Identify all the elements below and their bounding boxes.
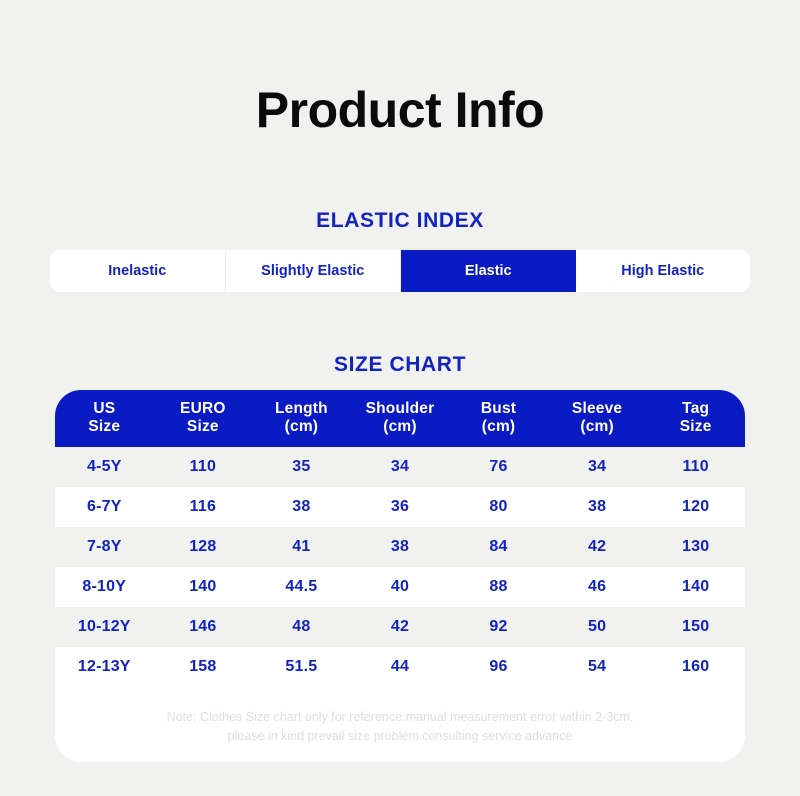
cell-bust: 92 — [449, 607, 548, 647]
size-chart-note: Note: Clothes Size chart only for refere… — [55, 708, 745, 746]
table-row: 6-7Y 116 38 36 80 38 120 — [55, 487, 745, 527]
cell-length: 48 — [252, 607, 351, 647]
table-header-row: USSize EUROSize Length(cm) Shoulder(cm) … — [55, 390, 745, 447]
cell-us-size: 6-7Y — [55, 487, 154, 527]
cell-euro-size: 128 — [154, 527, 253, 567]
product-info-page: Product Info ELASTIC INDEX Inelastic Sli… — [0, 0, 800, 796]
header-line-1: Sleeve — [572, 400, 622, 417]
header-line-2: Size — [156, 418, 251, 436]
elastic-segment-slightly-elastic[interactable]: Slightly Elastic — [226, 250, 402, 292]
elastic-segment-high-elastic[interactable]: High Elastic — [576, 250, 751, 292]
cell-length: 41 — [252, 527, 351, 567]
elastic-index-bar: Inelastic Slightly Elastic Elastic High … — [50, 250, 750, 292]
header-line-1: Bust — [481, 400, 516, 417]
size-chart-body: 4-5Y 110 35 34 76 34 110 6-7Y 116 38 36 … — [55, 447, 745, 687]
cell-bust: 80 — [449, 487, 548, 527]
cell-us-size: 8-10Y — [55, 567, 154, 607]
column-header-euro-size: EUROSize — [154, 390, 253, 447]
cell-sleeve: 50 — [548, 607, 647, 647]
cell-length: 35 — [252, 447, 351, 487]
cell-us-size: 10-12Y — [55, 607, 154, 647]
table-row: 7-8Y 128 41 38 84 42 130 — [55, 527, 745, 567]
column-header-us-size: USSize — [55, 390, 154, 447]
cell-shoulder: 34 — [351, 447, 450, 487]
elastic-segment-inelastic[interactable]: Inelastic — [50, 250, 226, 292]
column-header-shoulder: Shoulder(cm) — [351, 390, 450, 447]
column-header-length: Length(cm) — [252, 390, 351, 447]
header-line-1: Length — [275, 400, 328, 417]
cell-us-size: 7-8Y — [55, 527, 154, 567]
cell-euro-size: 140 — [154, 567, 253, 607]
column-header-sleeve: Sleeve(cm) — [548, 390, 647, 447]
header-line-2: Size — [648, 418, 743, 436]
header-line-2: (cm) — [353, 418, 448, 436]
cell-us-size: 4-5Y — [55, 447, 154, 487]
header-line-1: Tag — [682, 400, 709, 417]
table-row: 8-10Y 140 44.5 40 88 46 140 — [55, 567, 745, 607]
header-line-1: Shoulder — [366, 400, 435, 417]
note-line-1: Note: Clothes Size chart only for refere… — [95, 708, 705, 727]
cell-sleeve: 42 — [548, 527, 647, 567]
cell-tag-size: 140 — [646, 567, 745, 607]
cell-length: 51.5 — [252, 647, 351, 687]
cell-length: 38 — [252, 487, 351, 527]
cell-bust: 76 — [449, 447, 548, 487]
header-line-1: EURO — [180, 400, 226, 417]
elastic-index-heading: ELASTIC INDEX — [0, 208, 800, 234]
column-header-tag-size: TagSize — [646, 390, 745, 447]
cell-shoulder: 44 — [351, 647, 450, 687]
cell-bust: 84 — [449, 527, 548, 567]
cell-tag-size: 160 — [646, 647, 745, 687]
header-line-2: (cm) — [451, 418, 546, 436]
cell-sleeve: 54 — [548, 647, 647, 687]
size-chart-head: USSize EUROSize Length(cm) Shoulder(cm) … — [55, 390, 745, 447]
header-line-2: (cm) — [550, 418, 645, 436]
cell-length: 44.5 — [252, 567, 351, 607]
size-chart-table: USSize EUROSize Length(cm) Shoulder(cm) … — [55, 390, 745, 687]
cell-tag-size: 110 — [646, 447, 745, 487]
cell-tag-size: 120 — [646, 487, 745, 527]
cell-shoulder: 40 — [351, 567, 450, 607]
cell-shoulder: 42 — [351, 607, 450, 647]
elastic-segment-elastic[interactable]: Elastic — [401, 250, 576, 292]
page-title: Product Info — [0, 80, 800, 140]
header-line-1: US — [93, 400, 115, 417]
size-chart-heading: SIZE CHART — [0, 352, 800, 378]
cell-tag-size: 130 — [646, 527, 745, 567]
cell-sleeve: 38 — [548, 487, 647, 527]
cell-bust: 96 — [449, 647, 548, 687]
cell-euro-size: 158 — [154, 647, 253, 687]
cell-sleeve: 34 — [548, 447, 647, 487]
table-row: 4-5Y 110 35 34 76 34 110 — [55, 447, 745, 487]
size-chart-card: USSize EUROSize Length(cm) Shoulder(cm) … — [55, 390, 745, 762]
header-line-2: Size — [57, 418, 152, 436]
column-header-bust: Bust(cm) — [449, 390, 548, 447]
note-line-2: please in kind prevail size problem.cons… — [95, 727, 705, 746]
cell-euro-size: 110 — [154, 447, 253, 487]
cell-us-size: 12-13Y — [55, 647, 154, 687]
cell-shoulder: 38 — [351, 527, 450, 567]
cell-bust: 88 — [449, 567, 548, 607]
cell-sleeve: 46 — [548, 567, 647, 607]
cell-euro-size: 146 — [154, 607, 253, 647]
table-row: 10-12Y 146 48 42 92 50 150 — [55, 607, 745, 647]
header-line-2: (cm) — [254, 418, 349, 436]
table-row: 12-13Y 158 51.5 44 96 54 160 — [55, 647, 745, 687]
cell-euro-size: 116 — [154, 487, 253, 527]
cell-tag-size: 150 — [646, 607, 745, 647]
cell-shoulder: 36 — [351, 487, 450, 527]
